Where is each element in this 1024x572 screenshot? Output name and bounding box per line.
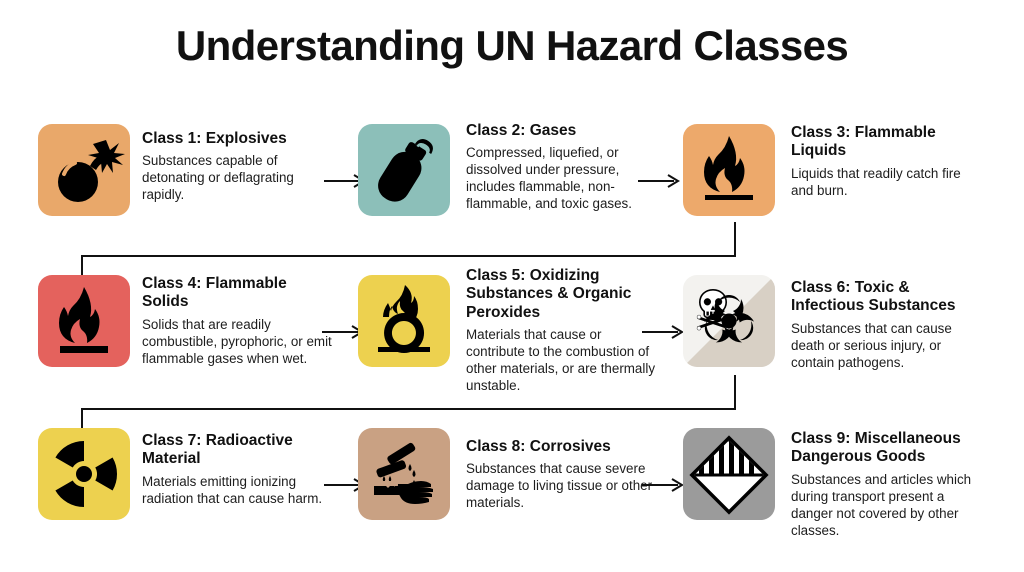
corrosion-icon [358, 428, 450, 520]
radiation-trefoil-icon [38, 428, 130, 520]
class-8-title: Class 8: Corrosives [466, 438, 662, 456]
hazard-class-grid: Class 1: Explosives Substances capable o… [0, 112, 1024, 572]
hazard-card-class-5[interactable]: Class 5: Oxidizing Substances & Organic … [350, 263, 655, 413]
class-3-tile [683, 124, 775, 216]
class-4-title: Class 4: Flammable Solids [142, 275, 332, 312]
page-title: Understanding UN Hazard Classes [0, 22, 1024, 70]
class-8-description: Substances that cause severe damage to l… [466, 460, 662, 511]
flame-icon [38, 275, 130, 367]
class-6-description: Substances that can cause death or serio… [791, 320, 983, 371]
class-6-text-block: Class 6: Toxic & Infectious Substances S… [791, 279, 983, 371]
class-3-title: Class 3: Flammable Liquids [791, 124, 983, 161]
hazard-card-class-6[interactable]: Class 6: Toxic & Infectious Substances S… [675, 263, 980, 413]
hazard-card-class-2[interactable]: Class 2: Gases Compressed, liquefied, or… [350, 112, 655, 262]
flame-icon [683, 124, 775, 216]
class-2-text-block: Class 2: Gases Compressed, liquefied, or… [466, 122, 662, 213]
class-9-title: Class 9: Miscellaneous Dangerous Goods [791, 430, 983, 467]
class-4-text-block: Class 4: Flammable Solids Solids that ar… [142, 275, 332, 367]
hazard-row-3: Class 7: Radioactive Material Materials … [0, 416, 1024, 566]
class-5-description: Materials that cause or contribute to th… [466, 326, 662, 394]
class-1-text-block: Class 1: Explosives Substances capable o… [142, 130, 332, 203]
class-5-text-block: Class 5: Oxidizing Substances & Organic … [466, 267, 662, 394]
class-5-tile [358, 275, 450, 367]
class-3-description: Liquids that readily catch fire and burn… [791, 165, 983, 199]
hazard-row-2: Class 4: Flammable Solids Solids that ar… [0, 263, 1024, 413]
class-8-tile [358, 428, 450, 520]
hazard-card-class-3[interactable]: Class 3: Flammable Liquids Liquids that … [675, 112, 980, 262]
class-1-title: Class 1: Explosives [142, 130, 332, 148]
striped-diamond-icon [683, 428, 775, 520]
class-8-text-block: Class 8: Corrosives Substances that caus… [466, 438, 662, 511]
class-9-text-block: Class 9: Miscellaneous Dangerous Goods S… [791, 430, 983, 539]
hazard-card-class-9[interactable]: Class 9: Miscellaneous Dangerous Goods S… [675, 416, 980, 566]
class-2-description: Compressed, liquefied, or dissolved unde… [466, 144, 662, 212]
class-6-title: Class 6: Toxic & Infectious Substances [791, 279, 983, 316]
class-9-tile [683, 428, 775, 520]
class-7-description: Materials emitting ionizing radiation th… [142, 473, 332, 507]
class-2-title: Class 2: Gases [466, 122, 662, 140]
oxidizer-flame-over-circle-icon [358, 275, 450, 367]
bomb-icon [38, 124, 130, 216]
hazard-card-class-4[interactable]: Class 4: Flammable Solids Solids that ar… [30, 263, 335, 413]
hazard-card-class-8[interactable]: Class 8: Corrosives Substances that caus… [350, 416, 655, 566]
gas-cylinder-icon [358, 124, 450, 216]
skull-and-biohazard-icon [683, 275, 775, 367]
class-4-tile [38, 275, 130, 367]
class-1-tile [38, 124, 130, 216]
hazard-card-class-7[interactable]: Class 7: Radioactive Material Materials … [30, 416, 335, 566]
class-1-description: Substances capable of detonating or defl… [142, 152, 332, 203]
class-4-description: Solids that are readily combustible, pyr… [142, 316, 332, 367]
class-7-title: Class 7: Radioactive Material [142, 432, 332, 469]
class-5-title: Class 5: Oxidizing Substances & Organic … [466, 267, 662, 322]
class-7-tile [38, 428, 130, 520]
class-2-tile [358, 124, 450, 216]
class-3-text-block: Class 3: Flammable Liquids Liquids that … [791, 124, 983, 199]
class-9-description: Substances and articles which during tra… [791, 471, 983, 539]
class-6-tile [683, 275, 775, 367]
hazard-card-class-1[interactable]: Class 1: Explosives Substances capable o… [30, 112, 335, 262]
class-7-text-block: Class 7: Radioactive Material Materials … [142, 432, 332, 507]
hazard-row-1: Class 1: Explosives Substances capable o… [0, 112, 1024, 262]
